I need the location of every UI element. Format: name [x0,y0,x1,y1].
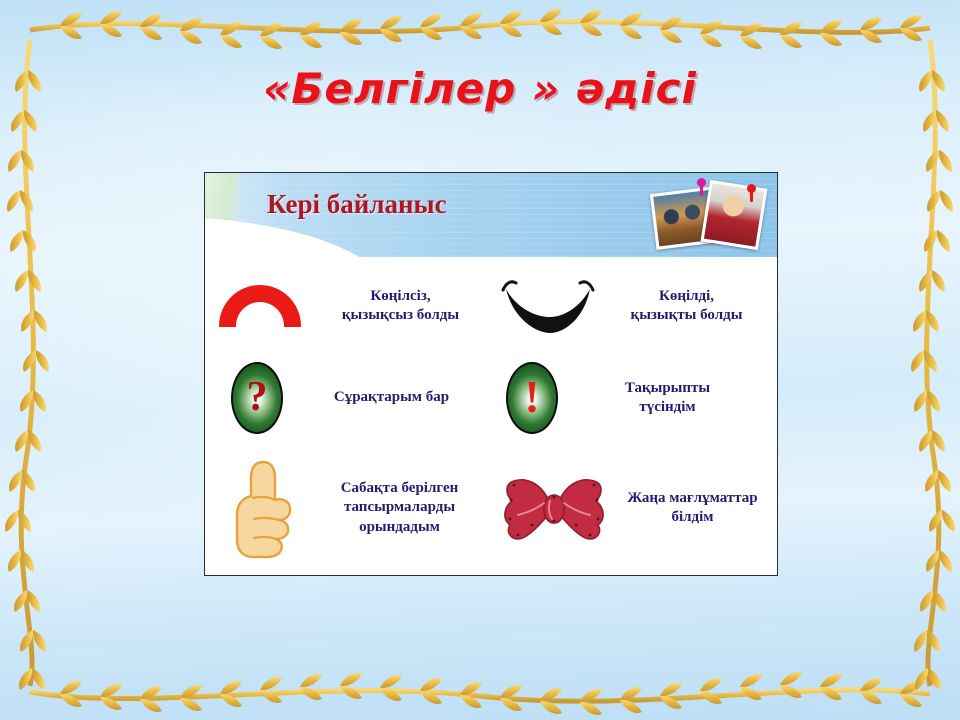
feedback-item-tasks-done: Сабақта берілген тапсырмаларды орындадым [205,452,500,564]
feedback-item-understood: ! Тақырыпты түсіндім [500,362,777,434]
feedback-row: Сабақта берілген тапсырмаларды орындадым [205,447,777,569]
vine-border-bottom-icon [0,660,960,720]
red-pushpin-icon [747,184,756,193]
question-mark-glyph: ? [247,376,268,418]
thumbs-up-icon [229,452,299,564]
photo-cluster [651,176,771,256]
feedback-label: Тақырыпты түсіндім [558,379,777,417]
feedback-item-happy: Көңілді, қызықты болды [500,277,777,335]
pink-pushpin-icon [697,178,706,187]
feedback-label: Көңілсіз, қызықсыз болды [301,287,500,325]
card-header: Кері байланыс [205,173,777,257]
feedback-label: Көңілді, қызықты болды [596,287,777,325]
feedback-item-sad: Көңілсіз, қызықсыз болды [205,285,500,327]
red-frown-arch-icon [219,285,301,327]
feedback-item-questions: ? Сұрақтарым бар [205,362,500,434]
vine-border-top-icon [0,0,960,60]
feedback-row: Көңілсіз, қызықсыз болды Көңілді, [205,263,777,349]
student-photo [701,180,768,250]
header-sweep-decoration [205,217,395,257]
green-oval-exclamation-icon: ! [506,362,558,434]
exclamation-mark-glyph: ! [524,374,539,420]
feedback-label: Сабақта берілген тапсырмаларды орындадым [299,479,500,537]
green-oval-question-icon: ? [231,362,283,434]
red-bow-icon [500,469,608,547]
feedback-label: Сұрақтарым бар [283,388,500,407]
card-body: Көңілсіз, қызықсыз болды Көңілді, [205,257,777,575]
page-title: «Белгілер » әдісі [0,64,960,113]
feedback-label: Жаңа мағлұматтар білдім [608,489,777,527]
feedback-card: Кері байланыс Көңілсіз, қызықсыз болд [204,172,778,576]
feedback-item-new-knowledge: Жаңа мағлұматтар білдім [500,469,777,547]
slide: «Белгілер » әдісі Кері байланыс [0,0,960,720]
black-smile-icon [500,277,596,335]
feedback-row: ? Сұрақтарым бар ! Тақырыпты [205,351,777,445]
card-header-title: Кері байланыс [267,189,447,220]
